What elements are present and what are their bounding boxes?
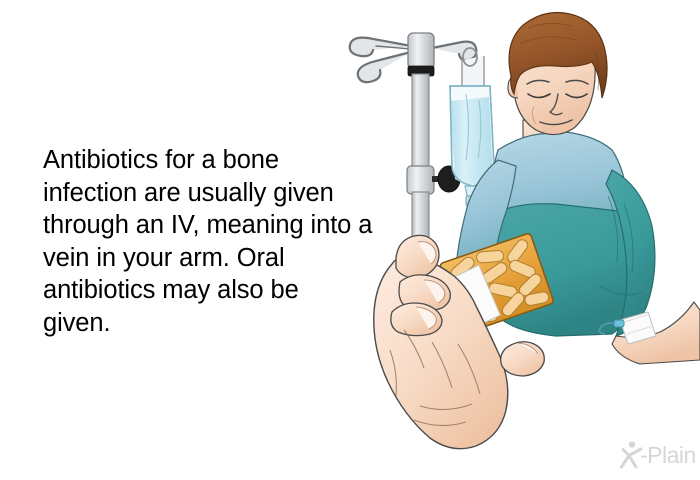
iv-pole-hooks (350, 38, 411, 83)
caption-text: Antibiotics for a bone infection are usu… (43, 144, 373, 339)
iv-pole-top-collar (408, 33, 434, 69)
illustration-page: Antibiotics for a bone infection are usu… (0, 0, 700, 480)
x-plain-logo: -Plain (620, 440, 696, 474)
logo-wordmark: -Plain (640, 442, 696, 469)
patient-head (508, 13, 607, 135)
iv-pole-joint (407, 166, 434, 194)
hand-finger-right (501, 342, 545, 376)
iv-pole-hook-right (432, 42, 476, 61)
iv-pole-upper-shaft (412, 74, 429, 168)
iv-bag-hanger (462, 56, 484, 86)
